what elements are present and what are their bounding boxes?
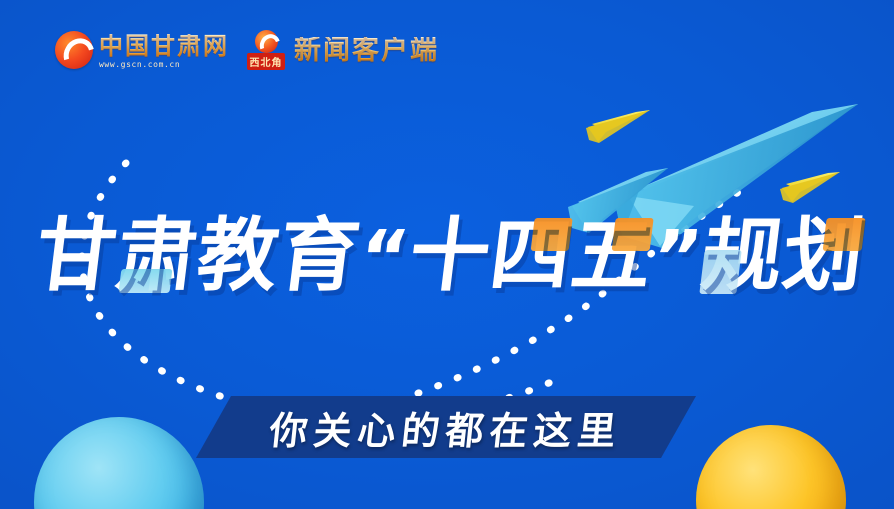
title-char-9: 规 xyxy=(697,216,788,296)
paper-plane-yellow-right xyxy=(780,172,840,203)
gscn-crescent-logo-icon xyxy=(55,31,93,69)
crescent-icon xyxy=(255,30,278,53)
logo-secondary-name: 新闻客户端 xyxy=(294,37,439,64)
title-char-3: 育 xyxy=(274,216,365,296)
logo-news-client[interactable]: 西北角 新闻客户端 xyxy=(247,30,439,70)
xibeijiao-crescent-logo-icon: 西北角 xyxy=(247,30,287,70)
title-char-1: 肃 xyxy=(112,216,203,296)
title-char-5: 十 xyxy=(405,216,496,296)
logo-primary-name: 中国甘肃网 xyxy=(99,34,229,58)
logo-primary-url: www.gscn.com.cn xyxy=(99,61,229,69)
poster-canvas: 中国甘肃网 www.gscn.com.cn 西北角 新闻客户端 甘肃教育“十四五… xyxy=(0,0,894,509)
subtitle-text: 你关心的都在这里 xyxy=(267,400,625,455)
title-char-7: 五 xyxy=(567,216,658,296)
page-title: 甘肃教育“十四五”规划 xyxy=(31,216,869,296)
title-char-10: 划 xyxy=(778,216,869,296)
subtitle-banner: 你关心的都在这里 xyxy=(196,396,696,458)
title-char-2: 教 xyxy=(193,216,284,296)
paper-plane-yellow-top xyxy=(586,110,650,143)
logo-secondary-seal-text: 西北角 xyxy=(247,53,285,70)
title-char-6: 四 xyxy=(486,216,577,296)
logo-china-gansu-net[interactable]: 中国甘肃网 www.gscn.com.cn xyxy=(55,31,229,69)
title-char-0: 甘 xyxy=(31,216,122,296)
main-title-wrap: 甘肃教育“十四五”规划 xyxy=(0,216,894,296)
header-logos: 中国甘肃网 www.gscn.com.cn 西北角 新闻客户端 xyxy=(55,30,439,70)
